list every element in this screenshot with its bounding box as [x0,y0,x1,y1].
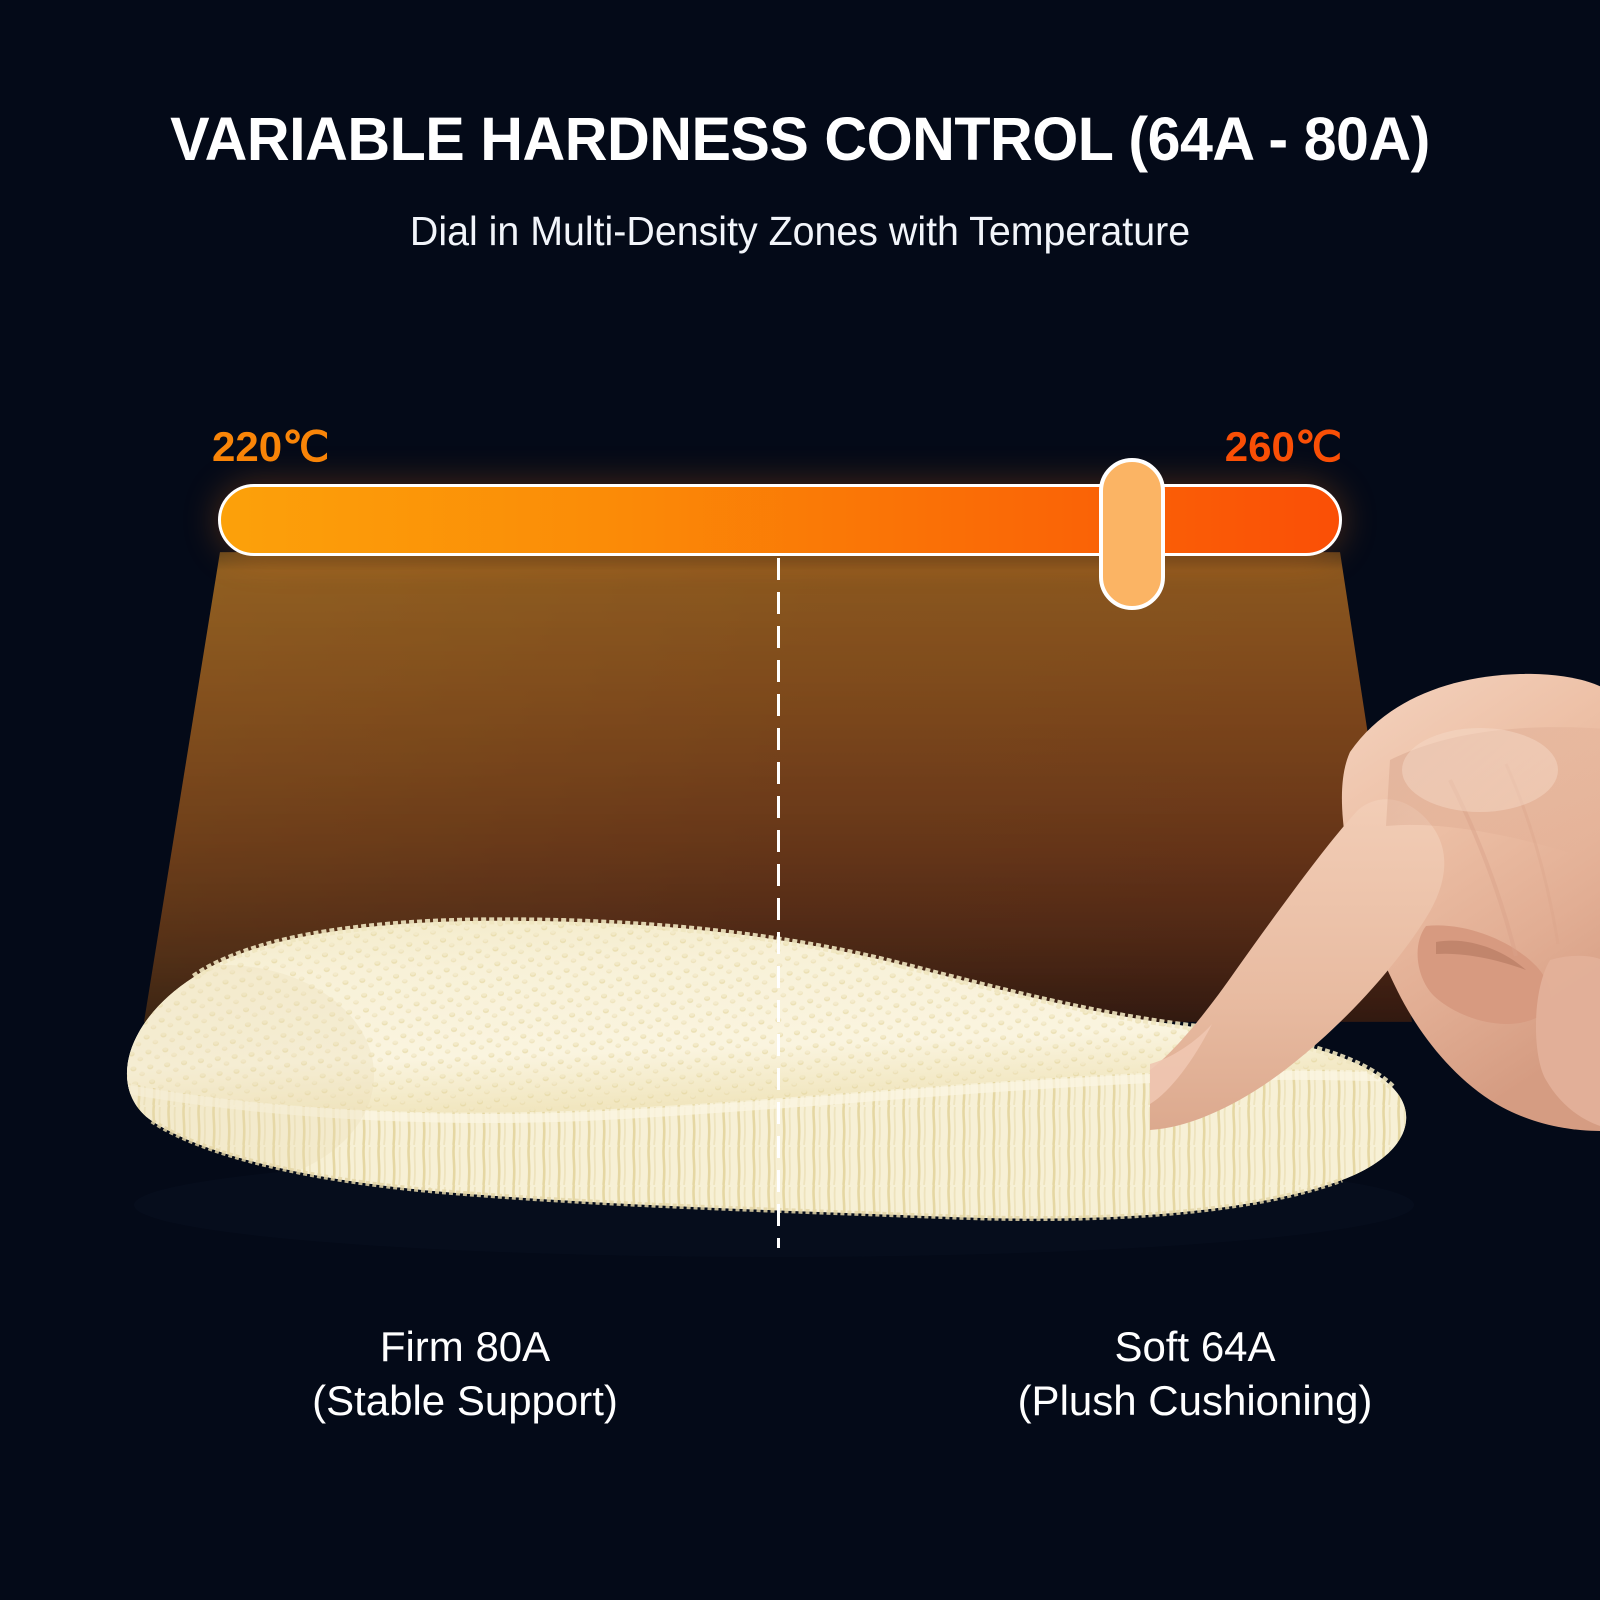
hand-image [1150,660,1600,1220]
page-title: VARIABLE HARDNESS CONTROL (64A - 80A) [24,104,1576,174]
temperature-slider-thumb[interactable] [1099,458,1165,610]
page-subtitle: Dial in Multi-Density Zones with Tempera… [32,208,1568,255]
zone-divider-dashed-line [777,558,780,1248]
infographic-canvas: VARIABLE HARDNESS CONTROL (64A - 80A) Di… [0,0,1600,1600]
zone-label-soft-line2: (Plush Cushioning) [855,1374,1535,1428]
temperature-min-label: 220℃ [212,422,329,471]
zone-label-firm-line2: (Stable Support) [155,1374,775,1428]
zone-label-soft-line1: Soft 64A [1114,1323,1275,1370]
zone-label-firm: Firm 80A (Stable Support) [155,1320,775,1428]
temperature-slider-track[interactable] [218,484,1342,556]
zone-label-soft: Soft 64A (Plush Cushioning) [855,1320,1535,1428]
zone-label-firm-line1: Firm 80A [380,1323,550,1370]
hand-pressing-icon [1150,660,1600,1220]
temperature-max-label: 260℃ [1225,422,1342,471]
